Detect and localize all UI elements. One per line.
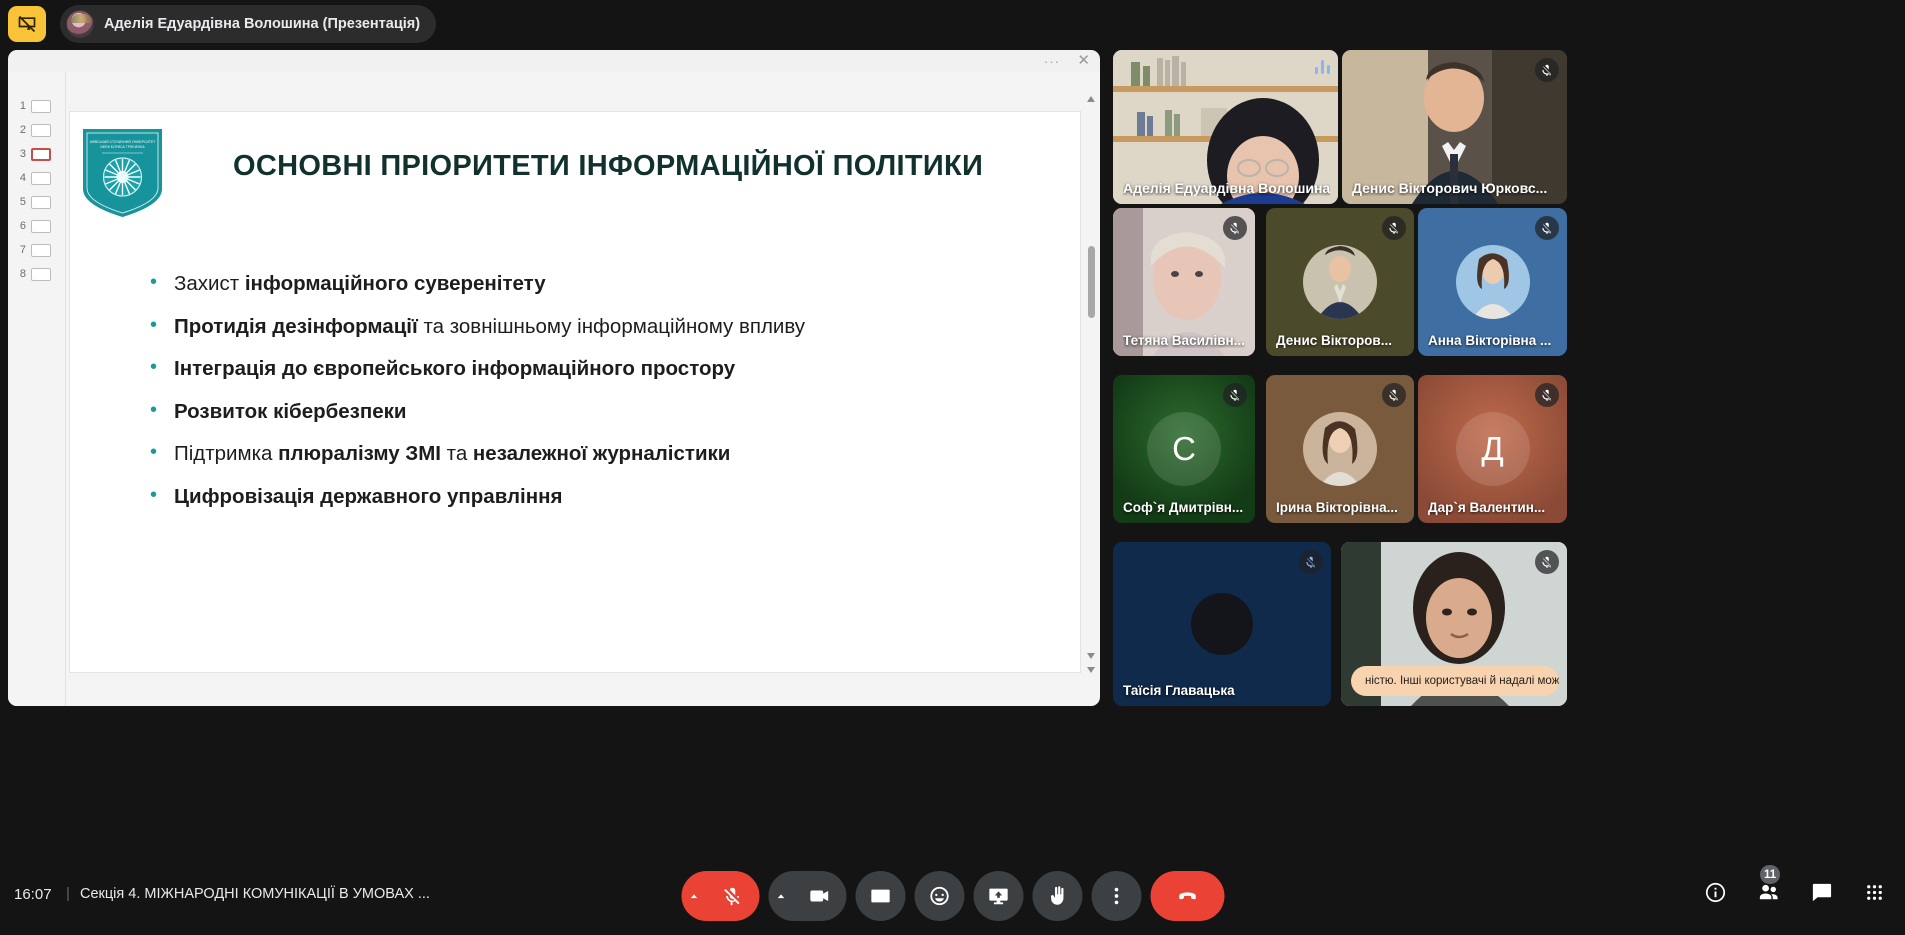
slide-thumbnail[interactable] <box>31 124 51 137</box>
participant-tile[interactable]: Аделія Едуардівна Волошина <box>1113 50 1338 204</box>
emoji-icon <box>928 885 950 907</box>
slide-canvas: КИЇВСЬКИЙ СТОЛИЧНИЙ УНІВЕРСИТЕТ ІМЕНІ БО… <box>70 112 1080 672</box>
bottom-right-icons: 11 <box>1702 879 1887 905</box>
slide-thumbnail[interactable] <box>31 100 51 113</box>
list-item[interactable]: 6 <box>8 214 65 238</box>
slide-number: 6 <box>16 220 26 232</box>
list-item: • Цифровізація державного управління <box>150 485 1050 528</box>
phone-hangup-icon <box>1176 885 1198 907</box>
slide-title: ОСНОВНІ ПРІОРИТЕТИ ІНФОРМАЦІЙНОЇ ПОЛІТИК… <box>233 150 1043 183</box>
chevron-up-icon <box>688 890 701 903</box>
slide-bullet-list: • Захист інформаційного суверенітету • П… <box>150 272 1050 527</box>
svg-text:КИЇВСЬКИЙ СТОЛИЧНИЙ УНІВЕРСИТЕ: КИЇВСЬКИЙ СТОЛИЧНИЙ УНІВЕРСИТЕТ <box>90 140 156 144</box>
more-options-button[interactable] <box>1091 871 1141 921</box>
slide-thumbnail[interactable] <box>31 268 51 281</box>
meet-window: Аделія Едуардівна Волошина (Презентація)… <box>0 0 1905 935</box>
captions-icon <box>869 885 891 907</box>
chevron-up-icon <box>775 890 788 903</box>
scroll-down-button[interactable] <box>1087 653 1096 662</box>
bullet-4-text: Розвиток кібербезпеки <box>174 400 407 424</box>
participant-name: Ірина Вікторівна... <box>1276 500 1398 515</box>
info-icon <box>1704 881 1727 904</box>
microphone-off-icon <box>1223 383 1247 407</box>
microphone-off-icon <box>1382 216 1406 240</box>
participant-tile[interactable]: Таїсія Главацька <box>1113 542 1331 706</box>
microphone-off-icon <box>1535 216 1559 240</box>
top-bar: Аделія Едуардівна Волошина (Презентація) <box>0 0 1905 48</box>
bottom-bar: 16:07 | Секція 4. МІЖНАРОДНІ КОМУНІКАЦІЇ… <box>0 857 1905 935</box>
university-logo-icon: КИЇВСЬКИЙ СТОЛИЧНИЙ УНІВЕРСИТЕТ ІМЕНІ БО… <box>80 127 165 219</box>
list-item: • Підтримка плюралізму ЗМІ та незалежної… <box>150 442 1050 485</box>
participants-count-badge: 11 <box>1760 865 1780 884</box>
bullet-dot-icon: • <box>150 357 157 377</box>
scroll-up-button[interactable] <box>1087 96 1096 105</box>
participant-name: Аделія Едуардівна Волошина <box>1123 180 1330 196</box>
mic-options-chevron[interactable] <box>681 890 707 903</box>
list-item[interactable]: 2 <box>8 118 65 142</box>
slide-number: 5 <box>16 196 26 208</box>
participant-grid: Аделія Едуардівна Волошина Денис Вікторо… <box>1113 50 1897 706</box>
participant-name: Таїсія Главацька <box>1123 683 1235 698</box>
slide-number: 2 <box>16 124 26 136</box>
avatar <box>1303 412 1377 486</box>
list-item[interactable]: 5 <box>8 190 65 214</box>
participant-tile[interactable]: Денис Вікторов... <box>1266 208 1414 356</box>
participant-tile[interactable]: Тетяна Василівн... <box>1113 208 1255 356</box>
slide-thumbnail[interactable] <box>31 220 51 233</box>
scrollbar-thumb[interactable] <box>1088 246 1095 318</box>
live-caption-bubble: ністю. Інші користувачі й надалі можу <box>1351 666 1559 696</box>
captions-button[interactable] <box>855 871 905 921</box>
powerpoint-body: 1 2 3 4 5 <box>8 72 1100 706</box>
microphone-off-icon <box>1299 550 1323 574</box>
slide-number: 1 <box>16 100 26 112</box>
list-item: • Розвиток кібербезпеки <box>150 400 1050 443</box>
participant-tile[interactable]: С Соф`я Дмитрівн... <box>1113 375 1255 523</box>
participant-name: Дар`я Валентин... <box>1428 500 1545 515</box>
list-item: • Протидія дезінформації та зовнішньому … <box>150 315 1050 358</box>
bullet-3-text: Інтеграція до європейського інформаційно… <box>174 357 735 381</box>
list-item-active[interactable]: 3 <box>8 142 65 166</box>
raised-hand-icon <box>1046 885 1068 907</box>
raise-hand-button[interactable] <box>1032 871 1082 921</box>
list-item[interactable]: 7 <box>8 238 65 262</box>
more-vertical-icon <box>1105 885 1127 907</box>
camera-options-chevron[interactable] <box>768 890 794 903</box>
reactions-button[interactable] <box>914 871 964 921</box>
bullet-5-text: Підтримка плюралізму ЗМІ та незалежної ж… <box>174 442 730 466</box>
list-item: • Інтеграція до європейського інформацій… <box>150 357 1050 400</box>
apps-grid-icon <box>1863 881 1886 904</box>
divider: | <box>66 885 70 902</box>
bullet-dot-icon: • <box>150 400 157 420</box>
screen-share-off-icon <box>17 14 37 34</box>
slide-thumbnail[interactable] <box>31 148 51 161</box>
microphone-off-icon <box>1535 550 1559 574</box>
participant-tile[interactable]: Ірина Вікторівна... <box>1266 375 1414 523</box>
list-item[interactable]: 1 <box>8 94 65 118</box>
camera-control-group[interactable] <box>768 871 846 921</box>
slide-thumbnail-rail[interactable]: 1 2 3 4 5 <box>8 72 66 706</box>
chat-bubble-icon <box>1810 881 1833 904</box>
avatar-initial: Д <box>1456 412 1530 486</box>
microphone-off-icon <box>1535 383 1559 407</box>
slide-number: 7 <box>16 244 26 256</box>
clock: 16:07 <box>14 886 52 903</box>
bullet-1-text: Захист інформаційного суверенітету <box>174 272 546 296</box>
avatar-photo <box>1303 245 1377 319</box>
bullet-dot-icon: • <box>150 442 157 462</box>
avatar-photo <box>1456 245 1530 319</box>
microphone-off-icon <box>1382 383 1406 407</box>
slide-thumbnail[interactable] <box>31 244 51 257</box>
call-controls <box>681 871 1224 921</box>
meeting-name: Секція 4. МІЖНАРОДНІ КОМУНІКАЦІЇ В УМОВА… <box>80 886 430 902</box>
scrollbar[interactable] <box>1086 94 1098 682</box>
list-item: • Захист інформаційного суверенітету <box>150 272 1050 315</box>
participant-name: Денис Вікторов... <box>1276 333 1392 348</box>
slide-number: 3 <box>16 148 26 160</box>
leave-call-button[interactable] <box>1150 871 1224 921</box>
camera-button[interactable] <box>794 871 844 921</box>
microphone-mute-button[interactable] <box>707 871 757 921</box>
more-options-icon[interactable]: ··· <box>1044 54 1060 69</box>
slide-number: 4 <box>16 172 26 184</box>
avatar <box>1456 245 1530 319</box>
participant-tile[interactable]: Денис Вікторович Юрковс... <box>1342 50 1567 204</box>
speaking-indicator-icon <box>1315 58 1331 74</box>
participant-name: Анна Вікторівна ... <box>1428 333 1551 348</box>
chat-button[interactable] <box>1808 879 1834 905</box>
slide-number: 8 <box>16 268 26 280</box>
participant-name: Денис Вікторович Юрковс... <box>1352 180 1547 196</box>
bullet-dot-icon: • <box>150 315 157 335</box>
bullet-2-text: Протидія дезінформації та зовнішньому ін… <box>174 315 805 339</box>
avatar-initial: С <box>1147 412 1221 486</box>
participant-tile[interactable]: ністю. Інші користувачі й надалі можу <box>1341 542 1567 706</box>
microphone-off-icon <box>1223 216 1247 240</box>
shared-screen-stage[interactable]: ··· ✕ 1 2 3 <box>8 50 1100 706</box>
participant-name: Тетяна Василівн... <box>1123 333 1245 348</box>
stop-presenting-button[interactable] <box>8 6 46 42</box>
list-item[interactable]: 4 <box>8 166 65 190</box>
avatar <box>66 10 94 38</box>
powerpoint-window: ··· ✕ 1 2 3 <box>8 50 1100 706</box>
microphone-control-group[interactable] <box>681 871 759 921</box>
slide-thumbnail[interactable] <box>31 196 51 209</box>
mic-off-icon <box>721 885 743 907</box>
avatar <box>1303 245 1377 319</box>
video-camera-icon <box>808 885 830 907</box>
list-item[interactable]: 8 <box>8 262 65 286</box>
present-screen-icon <box>987 885 1009 907</box>
slide-thumbnail[interactable] <box>31 172 51 185</box>
microphone-off-icon <box>1535 58 1559 82</box>
bullet-dot-icon: • <box>150 485 157 505</box>
scroll-next-slide-button[interactable] <box>1087 667 1096 676</box>
participant-tile[interactable]: Анна Вікторівна ... <box>1418 208 1567 356</box>
presenter-chip[interactable]: Аделія Едуардівна Волошина (Презентація) <box>60 5 436 43</box>
activities-button[interactable] <box>1861 879 1887 905</box>
bullet-dot-icon: • <box>150 272 157 292</box>
bullet-6-text: Цифровізація державного управління <box>174 485 562 509</box>
svg-text:ІМЕНІ БОРИСА ГРІНЧЕНКА: ІМЕНІ БОРИСА ГРІНЧЕНКА <box>100 145 145 149</box>
meeting-details-button[interactable] <box>1702 879 1728 905</box>
participants-button[interactable]: 11 <box>1755 879 1781 905</box>
participant-tile[interactable]: Д Дар`я Валентин... <box>1418 375 1567 523</box>
participant-name: Соф`я Дмитрівн... <box>1123 500 1243 515</box>
present-screen-button[interactable] <box>973 871 1023 921</box>
powerpoint-titlebar: ··· ✕ <box>8 50 1100 72</box>
avatar-placeholder <box>1191 593 1253 655</box>
presenter-name: Аделія Едуардівна Волошина (Презентація) <box>104 16 420 32</box>
close-icon[interactable]: ✕ <box>1077 51 1090 69</box>
avatar-photo <box>1303 412 1377 486</box>
